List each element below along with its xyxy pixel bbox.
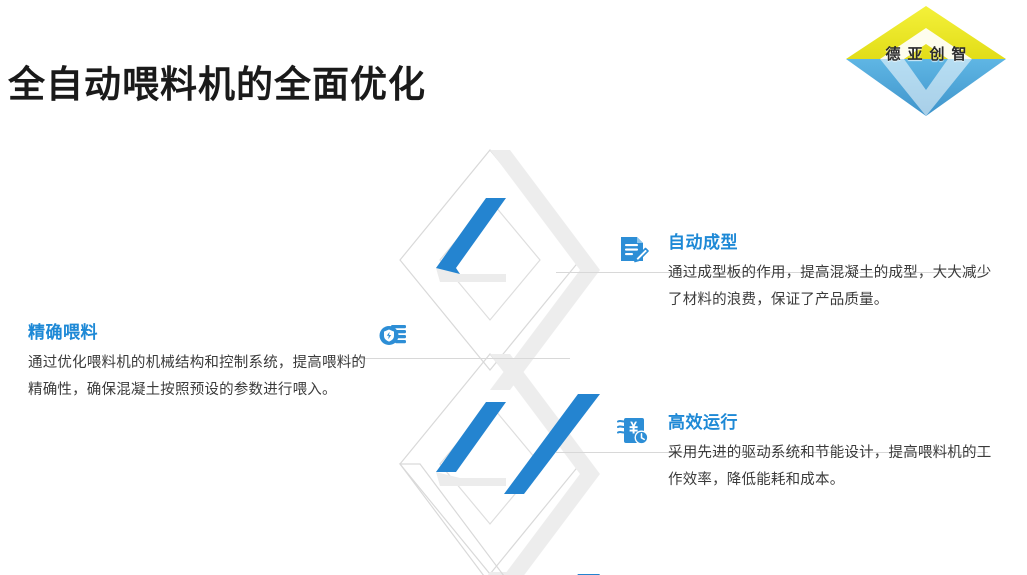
text-block-efficient-operation: 高效运行 采用先进的驱动系统和节能设计，提高喂料机的工作效率，降低能耗和成本。 <box>668 412 998 494</box>
notebook-yen-clock-icon <box>616 414 650 448</box>
text-block-precise-feeding: 精确喂料 通过优化喂料机的机械结构和控制系统，提高喂料的精确性，确保混凝土按照预… <box>28 322 373 404</box>
text-block-automatic-forming: 自动成型 通过成型板的作用，提高混凝土的成型，大大减少了材料的浪费，保证了产品质… <box>668 232 998 314</box>
connector-line-left <box>340 358 570 359</box>
slide-canvas: 全自动喂料机的全面优化 德亚创智 <box>0 0 1027 575</box>
block-body-precise-feeding: 通过优化喂料机的机械结构和控制系统，提高喂料的精确性，确保混凝土按照预设的参数进… <box>28 350 373 404</box>
page-title: 全自动喂料机的全面优化 <box>8 63 426 107</box>
block-heading-precise-feeding: 精确喂料 <box>28 322 373 344</box>
company-logo: 德亚创智 <box>840 2 1012 120</box>
logo-text: 德亚创智 <box>840 43 1012 64</box>
block-body-efficient-operation: 采用先进的驱动系统和节能设计，提高喂料机的工作效率，降低能耗和成本。 <box>668 440 998 494</box>
block-heading-automatic-forming: 自动成型 <box>668 232 998 254</box>
block-body-automatic-forming: 通过成型板的作用，提高混凝土的成型，大大减少了材料的浪费，保证了产品质量。 <box>668 260 998 314</box>
block-heading-efficient-operation: 高效运行 <box>668 412 998 434</box>
document-pencil-icon <box>616 234 650 268</box>
shield-coins-icon <box>376 320 410 354</box>
